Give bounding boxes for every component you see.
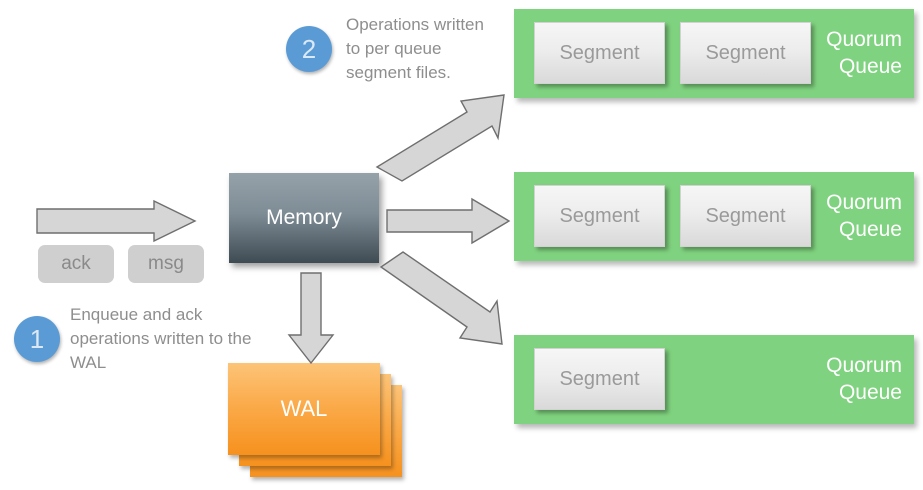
memory-to-queue-top-arrow [374,88,510,188]
quorum-queue-row-1: Segment Segment Quorum Queue [514,9,914,98]
quorum-queue-row-3: Segment Quorum Queue [514,335,914,424]
memory-to-queue-bottom-arrow [378,250,508,350]
wal-label: WAL [228,363,380,455]
quorum-queue-label: Quorum Queue [797,26,902,80]
step-caption-2: Operations written to per queue segment … [346,13,516,85]
memory-box: Memory [229,173,379,263]
segment-box: Segment [534,348,665,410]
incoming-operations-arrow [36,200,196,242]
memory-to-queue-middle-arrow [386,198,510,244]
segment-box: Segment [534,22,665,84]
quorum-queue-row-2: Segment Segment Quorum Queue [514,172,914,261]
step-badge-1: 1 [14,316,60,362]
quorum-queue-label: Quorum Queue [797,352,902,406]
segment-box: Segment [680,185,811,247]
wal-stack: WAL [228,363,413,490]
memory-to-wal-arrow [288,272,334,364]
quorum-queue-label: Quorum Queue [797,189,902,243]
diagram-canvas: 2 Operations written to per queue segmen… [0,0,923,490]
step-badge-2: 2 [286,26,332,72]
segment-box: Segment [680,22,811,84]
input-pill-msg: msg [128,245,204,283]
input-pill-ack: ack [38,245,114,283]
segment-box: Segment [534,185,665,247]
